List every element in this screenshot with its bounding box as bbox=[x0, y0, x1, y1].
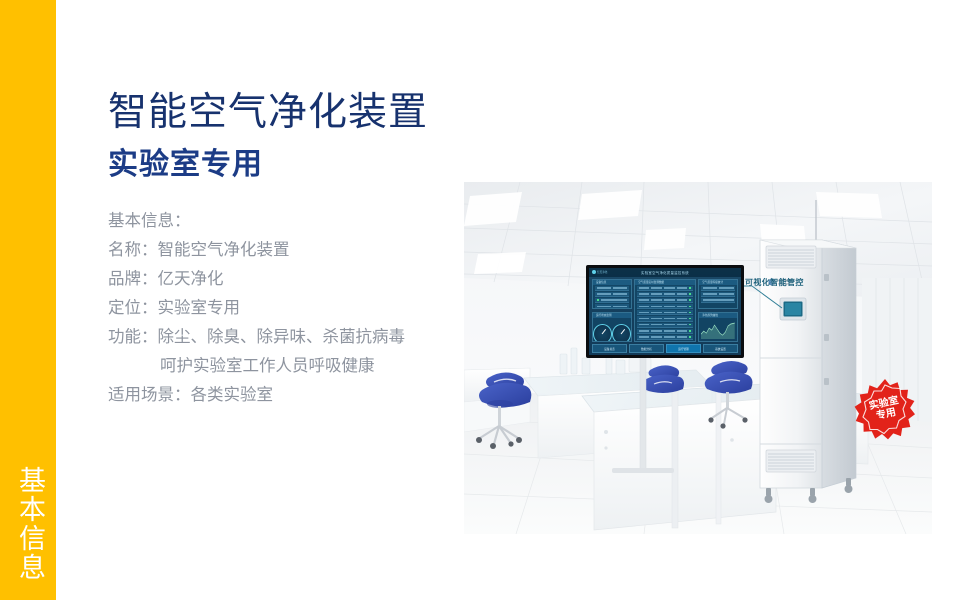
dashboard-tab-settings[interactable]: 系统设置 bbox=[703, 344, 738, 353]
info-line-positioning: 定位：实验室专用 bbox=[108, 293, 468, 322]
panel-title: 空气质量实时监测数据 bbox=[635, 280, 695, 285]
dashboard-system-title: 实验室空气净化质量监控系统 bbox=[589, 270, 741, 275]
product-photo: 亿天净化 实验室空气净化质量监控系统 设备信息 空气质量实时监测数据 bbox=[464, 182, 932, 534]
info-line-scenario: 适用场景：各类实验室 bbox=[108, 380, 468, 409]
info-heading: 基本信息： bbox=[108, 206, 468, 235]
gauge-group bbox=[593, 318, 631, 342]
info-line-brand: 品牌：亿天净化 bbox=[108, 264, 468, 293]
gauge-icon bbox=[612, 324, 631, 342]
photo-scene bbox=[464, 182, 932, 534]
lab-exclusive-badge: 实验室 专用 bbox=[854, 378, 916, 440]
panel-operation-status: 运行状态监测 bbox=[592, 312, 632, 342]
air-purifier-unit bbox=[760, 200, 856, 503]
dashboard: 亿天净化 实验室空气净化质量监控系统 设备信息 空气质量实时监测数据 bbox=[589, 268, 741, 355]
starburst-icon bbox=[854, 378, 916, 440]
trend-chart bbox=[701, 319, 735, 339]
sidebar-vertical-label: 基本信息 bbox=[13, 466, 43, 582]
panel-title: 空气质量等级统计 bbox=[699, 280, 737, 285]
dashboard-tabs: 设备总览 数据分析 运行管理 系统设置 bbox=[592, 344, 738, 353]
page-title: 智能空气净化装置 bbox=[108, 92, 428, 134]
dashboard-tab-overview[interactable]: 设备总览 bbox=[592, 344, 627, 353]
slide-root: 基本信息 智能空气净化装置 实验室专用 基本信息： 名称：智能空气净化装置 品牌… bbox=[0, 0, 960, 600]
info-line-function: 功能：除尘、除臭、除异味、杀菌抗病毒 bbox=[108, 322, 468, 351]
page-subtitle: 实验室专用 bbox=[108, 148, 263, 181]
panel-title: 设备信息 bbox=[593, 280, 631, 285]
info-line-name: 名称：智能空气净化装置 bbox=[108, 235, 468, 264]
callout-label-visual-control: 可视化智能管控 bbox=[745, 277, 804, 288]
dashboard-tab-analysis[interactable]: 数据分析 bbox=[629, 344, 664, 353]
panel-device-info: 设备信息 bbox=[592, 279, 632, 309]
panel-title: 净化趋势曲线 bbox=[699, 313, 737, 318]
info-block: 基本信息： 名称：智能空气净化装置 品牌：亿天净化 定位：实验室专用 功能：除尘… bbox=[108, 206, 468, 409]
gauge-icon bbox=[593, 324, 612, 342]
wall-monitor: 亿天净化 实验室空气净化质量监控系统 设备信息 空气质量实时监测数据 bbox=[586, 265, 744, 358]
panel-quality-level: 空气质量等级统计 bbox=[698, 279, 738, 309]
sidebar: 基本信息 bbox=[0, 0, 56, 600]
panel-trend-chart: 净化趋势曲线 bbox=[698, 312, 738, 342]
dashboard-tab-operation[interactable]: 运行管理 bbox=[666, 344, 701, 353]
dashboard-panels: 设备信息 空气质量实时监测数据 bbox=[592, 279, 738, 342]
panel-realtime-data: 空气质量实时监测数据 bbox=[634, 279, 696, 342]
dashboard-topbar: 亿天净化 实验室空气净化质量监控系统 bbox=[589, 268, 741, 277]
info-line-function-cont: 呵护实验室工作人员呼吸健康 bbox=[108, 351, 468, 380]
